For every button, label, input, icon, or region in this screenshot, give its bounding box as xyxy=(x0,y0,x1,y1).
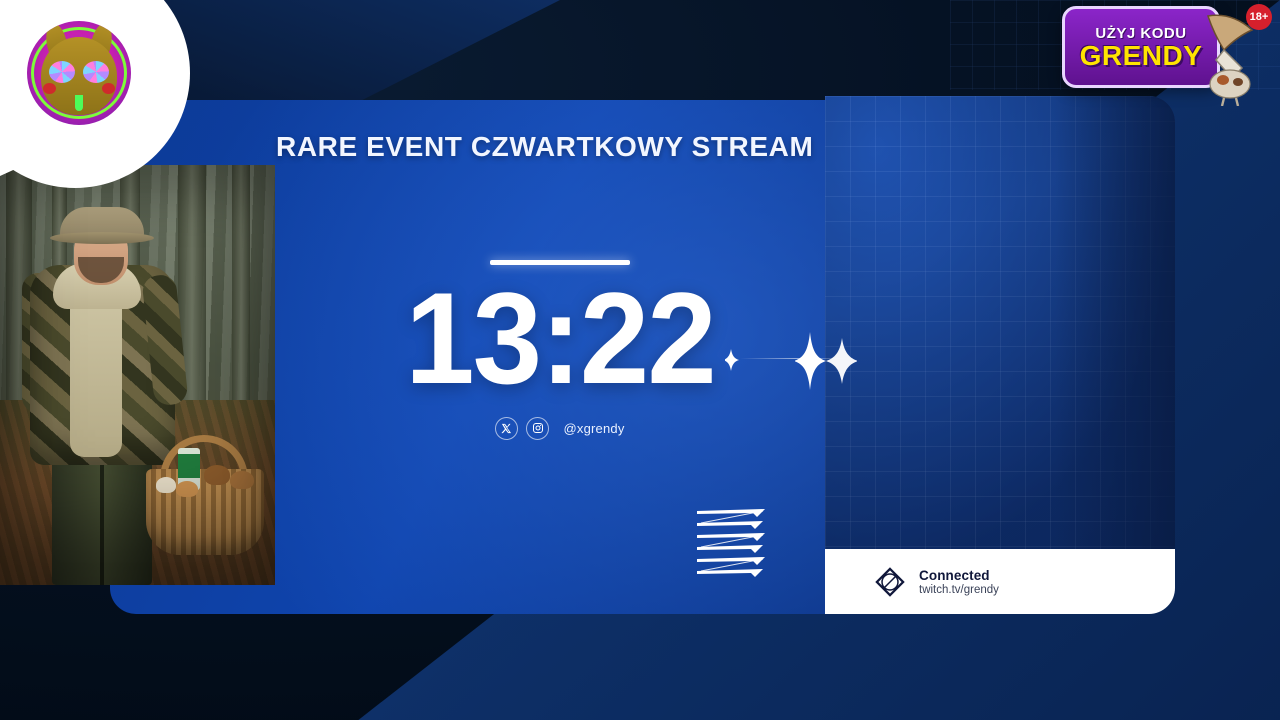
promo-code-value: GRENDY xyxy=(1080,42,1203,70)
x-twitter-icon[interactable] xyxy=(495,417,518,440)
sparkle-icon xyxy=(795,330,857,392)
diamond-slash-icon xyxy=(875,567,905,597)
zigzag-arrows-decoration xyxy=(695,505,775,585)
webcam-vignette xyxy=(0,165,275,585)
promo-code-label: UŻYJ KODU xyxy=(1095,25,1186,42)
avatar xyxy=(20,14,138,132)
stream-overlay-stage: RARE EVENT CZWARTKOWY STREAM xyxy=(0,0,1280,720)
age-rating-badge: 18+ xyxy=(1246,4,1272,30)
grid-fade-overlay xyxy=(1055,96,1175,614)
countdown-timer: 13:22 xyxy=(310,279,809,399)
instagram-icon[interactable] xyxy=(526,417,549,440)
social-handle: @xgrendy xyxy=(563,421,624,436)
connected-status: Connected xyxy=(919,568,999,583)
promo-code-badge[interactable]: UŻYJ KODU GRENDY xyxy=(1062,6,1220,88)
avatar-eye xyxy=(83,61,109,83)
sparkle-icon xyxy=(725,345,751,375)
avatar-art xyxy=(27,21,131,125)
connected-url: twitch.tv/grendy xyxy=(919,584,999,596)
avatar-eye xyxy=(49,61,75,83)
social-row: @xgrendy xyxy=(300,417,820,440)
avatar-cheek xyxy=(43,83,56,94)
sparkle-streak xyxy=(740,358,850,359)
avatar-cheek xyxy=(102,83,115,94)
webcam-feed xyxy=(0,165,275,585)
avatar-mouth xyxy=(75,95,83,111)
connected-card: Connected twitch.tv/grendy xyxy=(825,549,1175,614)
page-title: RARE EVENT CZWARTKOWY STREAM xyxy=(276,131,976,163)
connected-text-block: Connected twitch.tv/grendy xyxy=(919,568,999,596)
blueprint-grid-panel xyxy=(825,96,1175,614)
